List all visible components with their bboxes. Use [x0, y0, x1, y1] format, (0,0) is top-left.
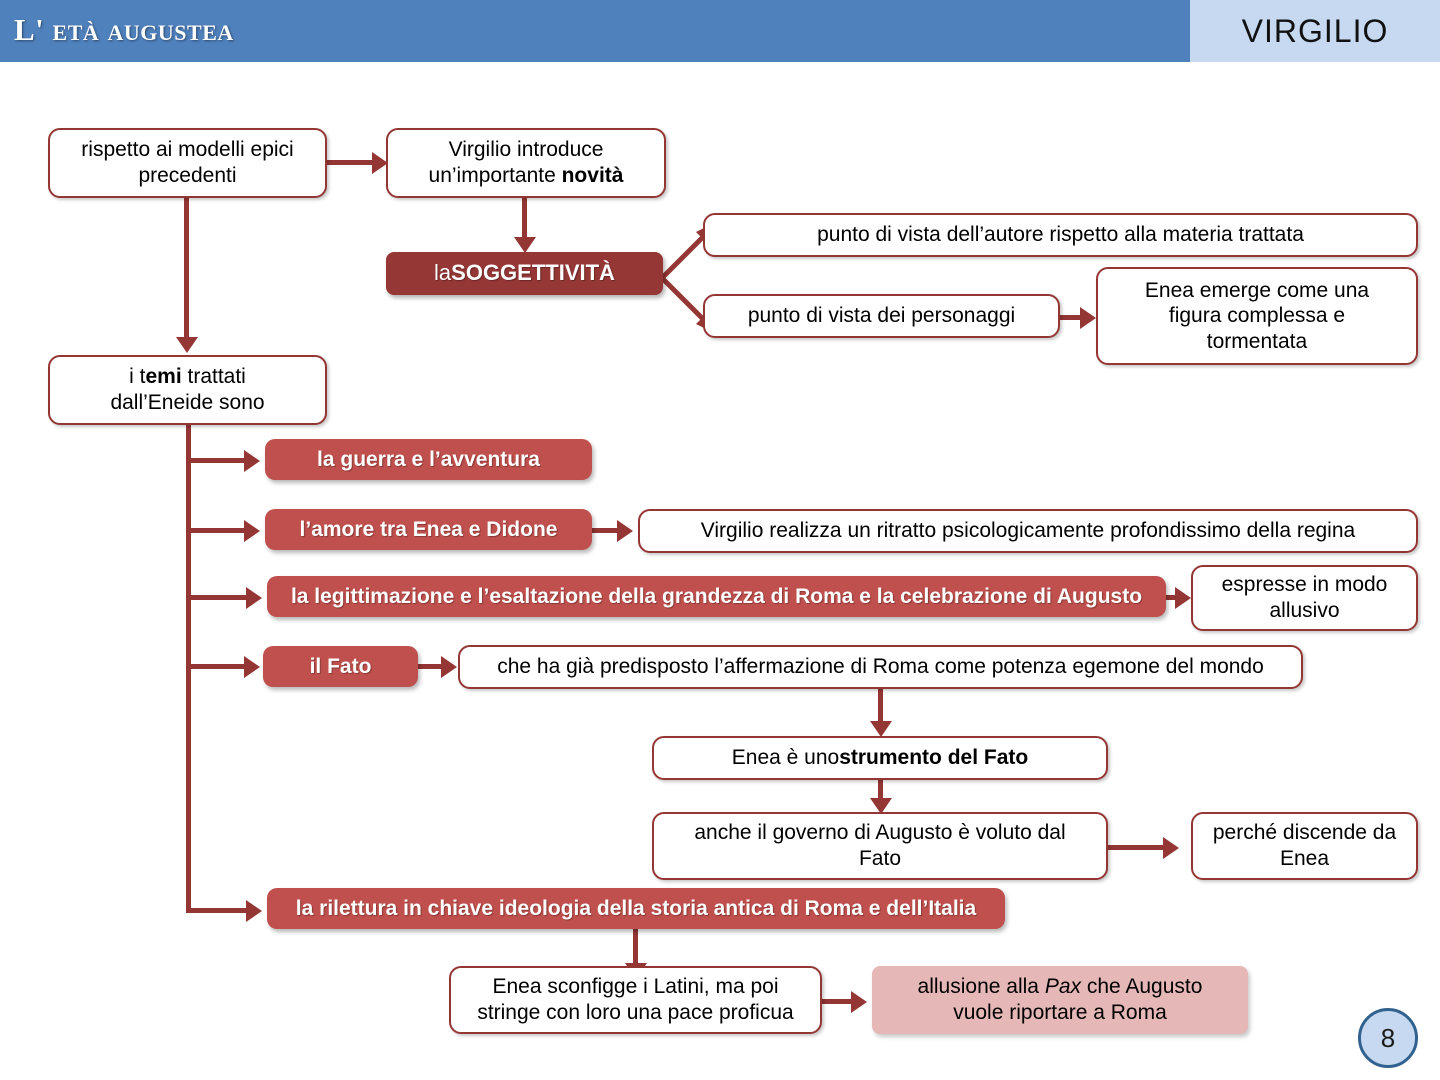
node-punto-personaggi[interactable]: punto di vista dei personaggi — [703, 294, 1060, 338]
node-soggettivita-bold: SOGGETTIVITÀ — [451, 260, 615, 287]
node-allusione-pax[interactable]: allusione alla Pax che Augusto vuole rip… — [872, 966, 1248, 1034]
node-tema-rilettura-text: la rilettura in chiave ideologia della s… — [296, 896, 976, 922]
connector-temi-to-rilettura — [186, 908, 248, 913]
node-temi[interactable]: i temi trattati dall’Eneide sono — [48, 355, 327, 425]
node-temi-line2: dall’Eneide sono — [110, 390, 264, 416]
node-allusione-pax-line2: vuole riportare a Roma — [953, 1000, 1167, 1026]
node-espresse-allusivo-line1: espresse in modo — [1222, 572, 1388, 598]
header-subtitle: VIRGILIO — [1190, 0, 1440, 62]
node-tema-amore-text: l’amore tra Enea e Didone — [300, 517, 558, 543]
node-tema-fato[interactable]: il Fato — [263, 646, 418, 687]
arrowhead-temi-to-fato — [244, 656, 260, 678]
node-tema-amore[interactable]: l’amore tra Enea e Didone — [265, 509, 592, 550]
connector-predisposto-to-strumento — [878, 688, 883, 724]
connector-temi-to-guerra — [186, 458, 246, 463]
connector-latini-to-allusione — [822, 999, 854, 1004]
node-novita[interactable]: Virgilio introduce un’importante novità — [386, 128, 666, 198]
connector-modelli-to-temi — [184, 198, 189, 340]
node-governo-augusto-line2: Fato — [859, 846, 901, 872]
node-allusione-pax-line1-post: che Augusto — [1081, 975, 1202, 998]
connector-amore-to-ritratto — [592, 528, 620, 533]
node-predisposto[interactable]: che ha già predisposto l’affermazione di… — [458, 645, 1303, 689]
node-espresse-allusivo[interactable]: espresse in modo allusivo — [1191, 565, 1418, 631]
connector-temi-to-legittimazione — [186, 595, 248, 600]
node-espresse-allusivo-line2: allusivo — [1269, 598, 1339, 624]
node-strumento-fato-pre: Enea è uno — [732, 745, 839, 771]
node-allusione-pax-line1-italic: Pax — [1045, 975, 1081, 998]
arrowhead-temi-to-amore — [244, 520, 260, 542]
connector-rilettura-to-latini — [633, 928, 638, 966]
arrowhead-novita-to-soggettivita — [514, 237, 536, 253]
slide-header: L' età augustea VIRGILIO — [0, 0, 1440, 62]
node-allusione-pax-line1-pre: allusione alla — [918, 975, 1045, 998]
node-modelli-epici-line2: precedenti — [138, 163, 236, 189]
node-discende-enea-line1: perché discende da — [1213, 820, 1396, 846]
node-temi-line1-post: trattati — [182, 365, 246, 388]
node-allusione-pax-line1: allusione alla Pax che Augusto — [918, 974, 1203, 1000]
arrowhead-governo-to-discende — [1163, 837, 1179, 859]
node-temi-line1-bold: emi — [145, 365, 181, 388]
page-number-badge: 8 — [1358, 1008, 1418, 1068]
node-discende-enea[interactable]: perché discende da Enea — [1191, 812, 1418, 880]
node-tema-guerra[interactable]: la guerra e l’avventura — [265, 439, 592, 480]
node-novita-line2-pre: un’importante — [429, 164, 562, 187]
node-enea-figura-line1: Enea emerge come una — [1145, 278, 1369, 304]
node-governo-augusto-line1: anche il governo di Augusto è voluto dal — [694, 820, 1065, 846]
node-governo-augusto[interactable]: anche il governo di Augusto è voluto dal… — [652, 812, 1108, 880]
node-enea-latini-line2: stringe con loro una pace proficua — [477, 1000, 793, 1026]
node-punto-autore-text: punto di vista dell’autore rispetto alla… — [817, 222, 1304, 248]
node-modelli-epici[interactable]: rispetto ai modelli epici precedenti — [48, 128, 327, 198]
node-punto-autore[interactable]: punto di vista dell’autore rispetto alla… — [703, 213, 1418, 257]
arrowhead-modelli-to-temi — [176, 337, 198, 353]
node-enea-latini-line1: Enea sconfigge i Latini, ma poi — [492, 974, 778, 1000]
connector-novita-to-soggettivita — [522, 198, 527, 240]
node-ritratto-regina-text: Virgilio realizza un ritratto psicologic… — [701, 518, 1355, 544]
arrowhead-fato-to-predisposto — [441, 656, 457, 678]
node-predisposto-text: che ha già predisposto l’affermazione di… — [497, 654, 1264, 680]
arrowhead-legittimazione-to-espresse — [1175, 587, 1191, 609]
node-strumento-fato[interactable]: Enea è uno strumento del Fato — [652, 736, 1108, 780]
node-novita-line1: Virgilio introduce — [449, 137, 604, 163]
node-tema-guerra-text: la guerra e l’avventura — [317, 447, 540, 473]
node-temi-line1: i temi trattati — [129, 364, 246, 390]
node-punto-personaggi-text: punto di vista dei personaggi — [748, 303, 1015, 329]
node-enea-figura-line3: tormentata — [1207, 329, 1307, 355]
arrowhead-amore-to-ritratto — [617, 520, 633, 542]
node-tema-fato-text: il Fato — [310, 654, 372, 680]
node-strumento-fato-bold: strumento del Fato — [839, 745, 1028, 771]
node-enea-latini[interactable]: Enea sconfigge i Latini, ma poi stringe … — [449, 966, 822, 1034]
node-temi-line1-pre: i t — [129, 365, 145, 388]
node-ritratto-regina[interactable]: Virgilio realizza un ritratto psicologic… — [638, 509, 1418, 553]
arrowhead-personaggi-to-enea — [1080, 307, 1096, 329]
node-tema-legittimazione-text: la legittimazione e l’esaltazione della … — [291, 584, 1142, 610]
arrowhead-temi-to-legittimazione — [246, 587, 262, 609]
node-soggettivita[interactable]: la SOGGETTIVITÀ — [386, 252, 663, 295]
arrowhead-latini-to-allusione — [851, 991, 867, 1013]
node-soggettivita-pre: la — [434, 260, 451, 287]
node-novita-line2: un’importante novità — [429, 163, 624, 189]
arrowhead-temi-to-guerra — [244, 450, 260, 472]
connector-temi-to-fato — [186, 664, 246, 669]
connector-temi-to-amore — [186, 528, 246, 533]
node-enea-figura[interactable]: Enea emerge come una figura complessa e … — [1096, 267, 1418, 365]
node-modelli-epici-line1: rispetto ai modelli epici — [81, 137, 293, 163]
connector-modelli-to-novita — [327, 160, 375, 165]
arrowhead-predisposto-to-strumento — [870, 721, 892, 737]
node-tema-rilettura[interactable]: la rilettura in chiave ideologia della s… — [267, 888, 1005, 929]
node-enea-figura-line2: figura complessa e — [1169, 303, 1345, 329]
node-tema-legittimazione[interactable]: la legittimazione e l’esaltazione della … — [267, 576, 1166, 617]
node-discende-enea-line2: Enea — [1280, 846, 1329, 872]
arrowhead-temi-to-rilettura — [246, 900, 262, 922]
connector-governo-to-discende — [1108, 845, 1166, 850]
page-title: L' età augustea — [14, 12, 234, 48]
node-novita-line2-bold: novità — [562, 164, 624, 187]
